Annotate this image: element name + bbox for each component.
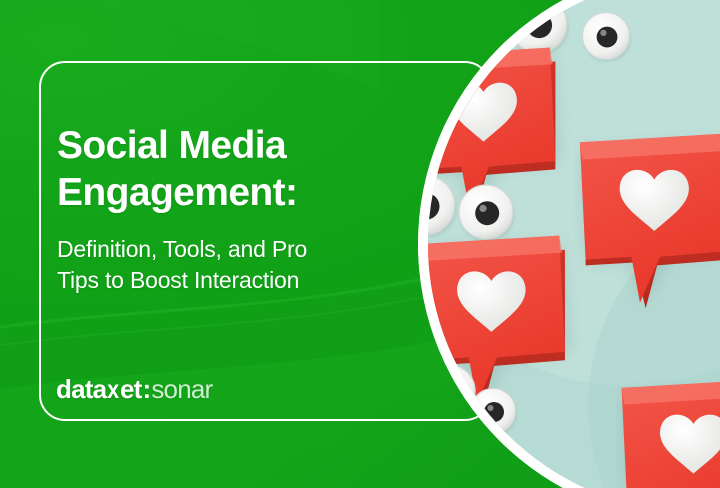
headline-block: Social MediaEngagement: Definition, Tool… xyxy=(57,122,402,296)
brand-logo-x-mark: x xyxy=(107,374,118,405)
page-subtitle-line-1: Definition, Tools, and Pro xyxy=(57,236,307,262)
brand-logo-separator: : xyxy=(141,374,151,405)
brand-logo[interactable]: dataxet:sonar xyxy=(56,374,212,405)
page-subtitle-line-2: Tips to Boost Interaction xyxy=(57,267,299,293)
googly-eye xyxy=(583,13,631,62)
brand-logo-data: data xyxy=(56,374,106,405)
page-subtitle: Definition, Tools, and ProTips to Boost … xyxy=(57,234,402,296)
social-media-engagement-banner: Social MediaEngagement: Definition, Tool… xyxy=(0,0,720,488)
page-title: Social MediaEngagement: xyxy=(57,122,402,216)
page-title-line-2: Engagement: xyxy=(57,171,297,214)
brand-logo-sonar: sonar xyxy=(151,374,212,405)
page-title-line-1: Social Media xyxy=(57,124,286,167)
brand-logo-et: et xyxy=(120,374,142,405)
heart-reaction-bubble xyxy=(622,380,720,488)
